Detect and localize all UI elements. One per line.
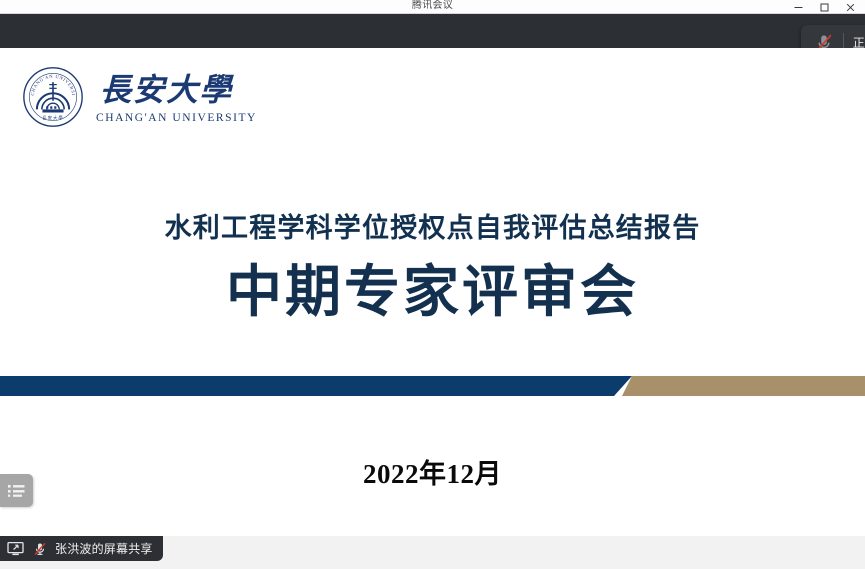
university-name-en: CHANG'AN UNIVERSITY — [96, 112, 257, 124]
maximize-icon — [819, 2, 830, 13]
minimize-button[interactable] — [785, 0, 811, 14]
window-title: 腾讯会议 — [0, 0, 865, 13]
window-controls — [785, 0, 863, 14]
svg-text:長安大學: 長安大學 — [42, 114, 63, 121]
meeting-window: 腾讯会议 — [0, 0, 865, 569]
panel-toggle-button[interactable] — [0, 474, 33, 507]
shared-screen-slide: CHANG'AN UNIVERSITY 長安大學 長安大學 CHAN — [0, 48, 865, 536]
screen-share-indicator[interactable]: 张洪波的屏幕共享 — [0, 536, 163, 561]
maximize-button[interactable] — [811, 0, 837, 14]
list-menu-icon — [7, 483, 26, 498]
screen-share-icon — [7, 541, 24, 556]
band-gold-segment — [622, 376, 865, 396]
slide-date: 2022年12月 — [0, 452, 865, 491]
slide-headline: 水利工程学科学位授权点自我评估总结报告 — [0, 206, 865, 245]
slide-main-title: 中期专家评审会 — [0, 264, 865, 320]
university-name-block: 長安大學 CHANG'AN UNIVERSITY — [96, 70, 257, 124]
minimize-icon — [793, 2, 804, 13]
university-logo: CHANG'AN UNIVERSITY 長安大學 長安大學 CHAN — [22, 66, 257, 128]
slide-decorative-band — [0, 376, 865, 396]
microphone-muted-icon — [32, 541, 48, 557]
meeting-chrome-band — [0, 14, 865, 48]
window-titlebar: 腾讯会议 — [0, 0, 865, 14]
status-bar: 张洪波的屏幕共享 — [0, 536, 865, 569]
close-icon — [845, 2, 856, 13]
status-mic-icon-wrap — [30, 540, 50, 558]
svg-text:長安大學: 長安大學 — [100, 72, 235, 107]
band-navy-segment — [0, 376, 632, 396]
share-owner-label: 张洪波的屏幕共享 — [55, 540, 153, 557]
close-button[interactable] — [837, 0, 863, 14]
university-seal-icon: CHANG'AN UNIVERSITY 長安大學 — [22, 66, 84, 128]
screen-share-icon-wrap — [5, 540, 25, 558]
university-name-cn-calligraphy: 長安大學 — [96, 70, 248, 110]
